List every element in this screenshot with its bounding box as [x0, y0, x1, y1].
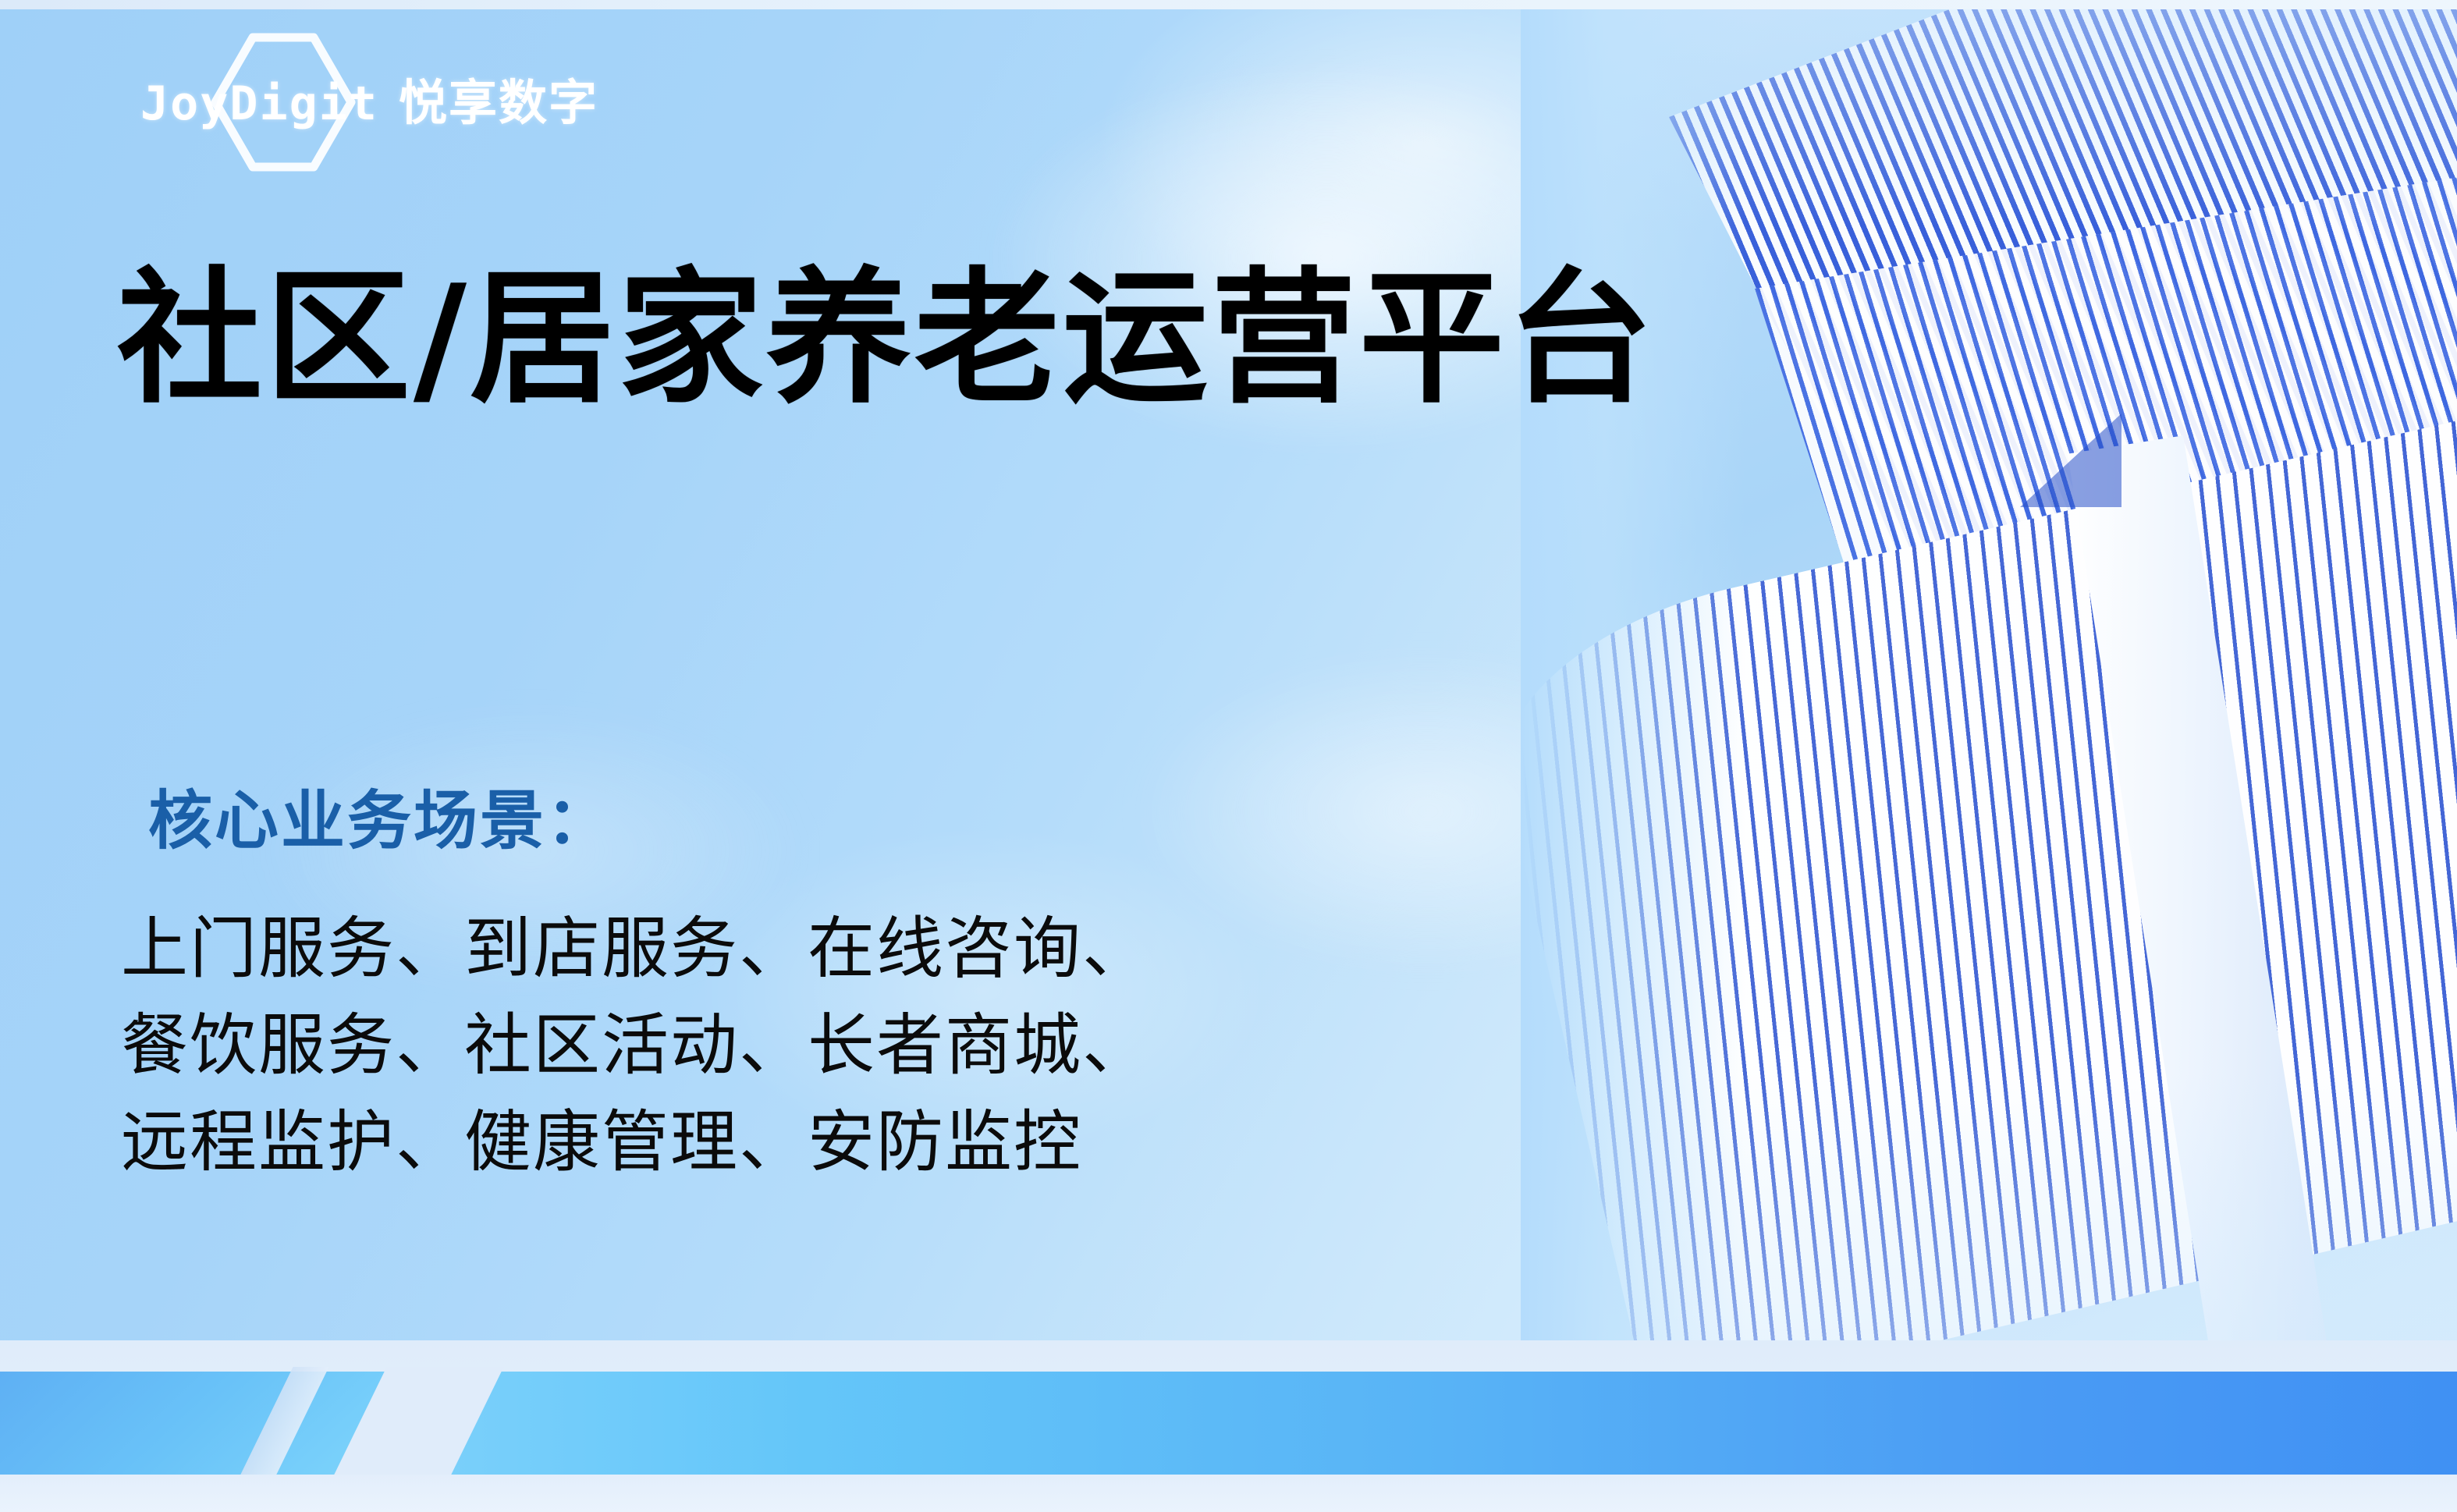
top-hairline	[0, 0, 2457, 9]
section-heading: 核心业务场景：	[148, 768, 612, 861]
logo-en-text: JoyDigit	[140, 76, 378, 131]
band-base-strip	[0, 1475, 2457, 1512]
page-title: 社区/居家养老运营平台	[117, 257, 1656, 420]
logo-wordmark: JoyDigit 悦享数字	[140, 63, 598, 133]
scenario-line: 餐饮服务、社区活动、长者商城、	[121, 998, 1151, 1095]
bottom-decoration-band	[0, 1340, 2457, 1512]
brand-logo[interactable]: JoyDigit 悦享数字	[140, 61, 598, 136]
photo-edge-fade	[1521, 8, 2457, 1373]
scenario-line: 上门服务、到店服务、在线咨询、	[121, 901, 1151, 998]
scenario-list: 上门服务、到店服务、在线咨询、 餐饮服务、社区活动、长者商城、 远程监护、健康管…	[121, 901, 1151, 1191]
logo-cn-text: 悦享数字	[399, 63, 598, 133]
scenario-line: 远程监护、健康管理、安防监控	[121, 1095, 1151, 1191]
skyscraper-photo	[1521, 8, 2457, 1373]
presentation-slide: JoyDigit 悦享数字 社区/居家养老运营平台 核心业务场景： 上门服务、到…	[0, 0, 2457, 1512]
